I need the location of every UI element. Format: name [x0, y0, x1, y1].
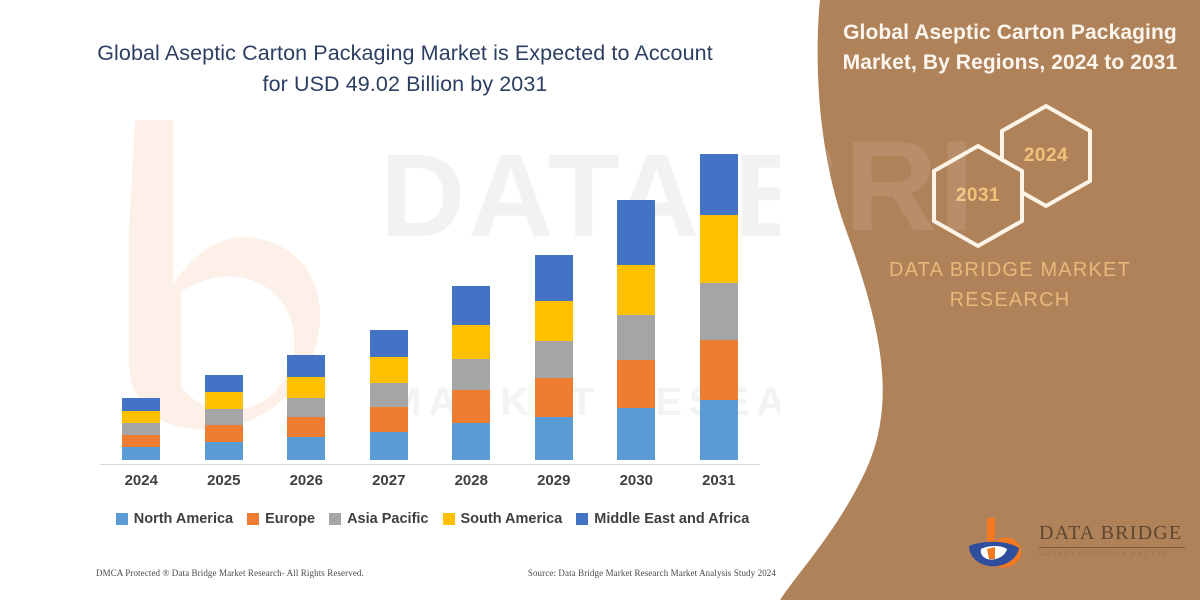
panel-title-line-2: Market, By Regions, 2024 to 2031 [843, 51, 1178, 74]
bar-segment[interactable] [452, 359, 490, 390]
bar-segment[interactable] [617, 360, 655, 408]
legend-label: Europe [265, 511, 315, 527]
infographic-canvas: DATA BRIDGE MARKET RESEARCH Global Asept… [0, 0, 1200, 600]
panel-brand-name: DATA BRIDGE MARKET RESEARCH [832, 255, 1188, 315]
x-axis-label: 2029 [513, 472, 595, 489]
panel-title-line-1: Global Aseptic Carton Packaging [843, 21, 1177, 44]
bar-segment[interactable] [287, 437, 325, 460]
bar-slot [265, 140, 347, 460]
bar-segment[interactable] [617, 200, 655, 265]
bar-segment[interactable] [205, 375, 243, 392]
bar-segment[interactable] [122, 398, 160, 411]
bar-segment[interactable] [370, 383, 408, 407]
chart-plot-area [100, 140, 760, 460]
x-axis-label: 2028 [430, 472, 512, 489]
dbmr-logo-subtitle: MARKET RESEARCH PVT LTD [1039, 551, 1187, 558]
legend-item[interactable]: Europe [247, 511, 315, 527]
bar-segment[interactable] [700, 283, 738, 340]
bar-segment[interactable] [122, 447, 160, 460]
dbmr-logo[interactable]: DATA BRIDGE MARKET RESEARCH PVT LTD [961, 514, 1186, 576]
legend-swatch-icon [329, 513, 341, 525]
legend-label: North America [134, 511, 233, 527]
bar-slot [348, 140, 430, 460]
bar-segment[interactable] [370, 432, 408, 460]
bar-segment[interactable] [617, 408, 655, 460]
dbmr-logo-mark-icon [961, 516, 1033, 574]
bar-segment[interactable] [700, 400, 738, 460]
bar-slot [513, 140, 595, 460]
bar-segment[interactable] [205, 409, 243, 425]
brand-panel: BRI Global Aseptic Carton Packaging Mark… [780, 0, 1200, 600]
chart-legend: North AmericaEuropeAsia PacificSouth Ame… [100, 511, 765, 527]
legend-label: Asia Pacific [347, 511, 428, 527]
legend-item[interactable]: South America [443, 511, 563, 527]
footer: DMCA Protected ® Data Bridge Market Rese… [96, 568, 776, 578]
stacked-bar[interactable] [452, 286, 490, 460]
bar-segment[interactable] [617, 315, 655, 360]
hexagon-2031[interactable]: 2031 [930, 142, 1026, 250]
chart-panel: DATA BRIDGE MARKET RESEARCH Global Asept… [0, 0, 810, 600]
dbmr-logo-name: DATA BRIDGE [1039, 522, 1187, 545]
x-axis-label: 2024 [100, 472, 182, 489]
x-axis-line [100, 464, 760, 465]
legend-item[interactable]: North America [116, 511, 233, 527]
legend-label: Middle East and Africa [594, 511, 749, 527]
bar-segment[interactable] [452, 286, 490, 325]
panel-title: Global Aseptic Carton Packaging Market, … [832, 18, 1188, 78]
bar-segment[interactable] [370, 407, 408, 432]
bar-segment[interactable] [452, 325, 490, 359]
bar-slot [430, 140, 512, 460]
headline-line-1: Global Aseptic Carton Packaging Market i… [97, 41, 713, 65]
legend-swatch-icon [247, 513, 259, 525]
bar-segment[interactable] [122, 411, 160, 423]
bar-segment[interactable] [205, 392, 243, 409]
bar-segment[interactable] [700, 215, 738, 283]
footer-source: Source: Data Bridge Market Research Mark… [528, 568, 776, 578]
bar-segment[interactable] [535, 255, 573, 301]
legend-item[interactable]: Asia Pacific [329, 511, 428, 527]
bar-segment[interactable] [287, 398, 325, 417]
stacked-bar[interactable] [287, 355, 325, 460]
bar-segment[interactable] [205, 425, 243, 442]
panel-brand-line-2: RESEARCH [950, 289, 1071, 311]
bar-segment[interactable] [535, 341, 573, 378]
legend-item[interactable]: Middle East and Africa [576, 511, 749, 527]
page-title: Global Aseptic Carton Packaging Market i… [60, 38, 750, 100]
x-axis-label: 2031 [678, 472, 760, 489]
dbmr-logo-text: DATA BRIDGE MARKET RESEARCH PVT LTD [1039, 522, 1187, 558]
stacked-bar[interactable] [535, 255, 573, 460]
brand-panel-content: BRI Global Aseptic Carton Packaging Mark… [780, 0, 1200, 600]
bar-segment[interactable] [700, 154, 738, 215]
legend-swatch-icon [116, 513, 128, 525]
bar-segment[interactable] [617, 265, 655, 315]
legend-swatch-icon [443, 513, 455, 525]
bar-segment[interactable] [122, 423, 160, 435]
bar-segment[interactable] [370, 357, 408, 383]
stacked-bar-chart [100, 140, 760, 465]
bar-slot [100, 140, 182, 460]
stacked-bar[interactable] [370, 330, 408, 460]
x-axis-label: 2025 [183, 472, 265, 489]
bar-segment[interactable] [205, 442, 243, 460]
bar-segment[interactable] [287, 377, 325, 398]
dbmr-logo-rule [1039, 547, 1185, 548]
stacked-bar[interactable] [700, 154, 738, 460]
stacked-bar[interactable] [122, 398, 160, 460]
x-axis-label: 2030 [595, 472, 677, 489]
bar-slot [678, 140, 760, 460]
bar-segment[interactable] [122, 435, 160, 447]
stacked-bar[interactable] [617, 200, 655, 460]
bar-slot [595, 140, 677, 460]
x-axis-label: 2026 [265, 472, 347, 489]
bar-slot [183, 140, 265, 460]
legend-label: South America [461, 511, 563, 527]
bar-segment[interactable] [370, 330, 408, 357]
legend-swatch-icon [576, 513, 588, 525]
x-axis-label: 2027 [348, 472, 430, 489]
x-axis-labels: 20242025202620272028202920302031 [100, 472, 760, 489]
bar-segment[interactable] [535, 378, 573, 417]
footer-copyright: DMCA Protected ® Data Bridge Market Rese… [96, 568, 364, 578]
panel-brand-line-1: DATA BRIDGE MARKET [889, 259, 1131, 281]
bar-segment[interactable] [535, 417, 573, 460]
hexagon-group: 2024 2031 [910, 120, 1160, 250]
bar-segment[interactable] [452, 390, 490, 423]
stacked-bar[interactable] [205, 375, 243, 460]
headline-line-2: for USD 49.02 Billion by 2031 [263, 72, 548, 96]
bar-segment[interactable] [452, 423, 490, 460]
bar-segment[interactable] [287, 355, 325, 377]
bar-segment[interactable] [535, 301, 573, 341]
bar-segment[interactable] [287, 417, 325, 437]
bar-segment[interactable] [700, 340, 738, 400]
hexagon-2031-label: 2031 [930, 142, 1026, 250]
